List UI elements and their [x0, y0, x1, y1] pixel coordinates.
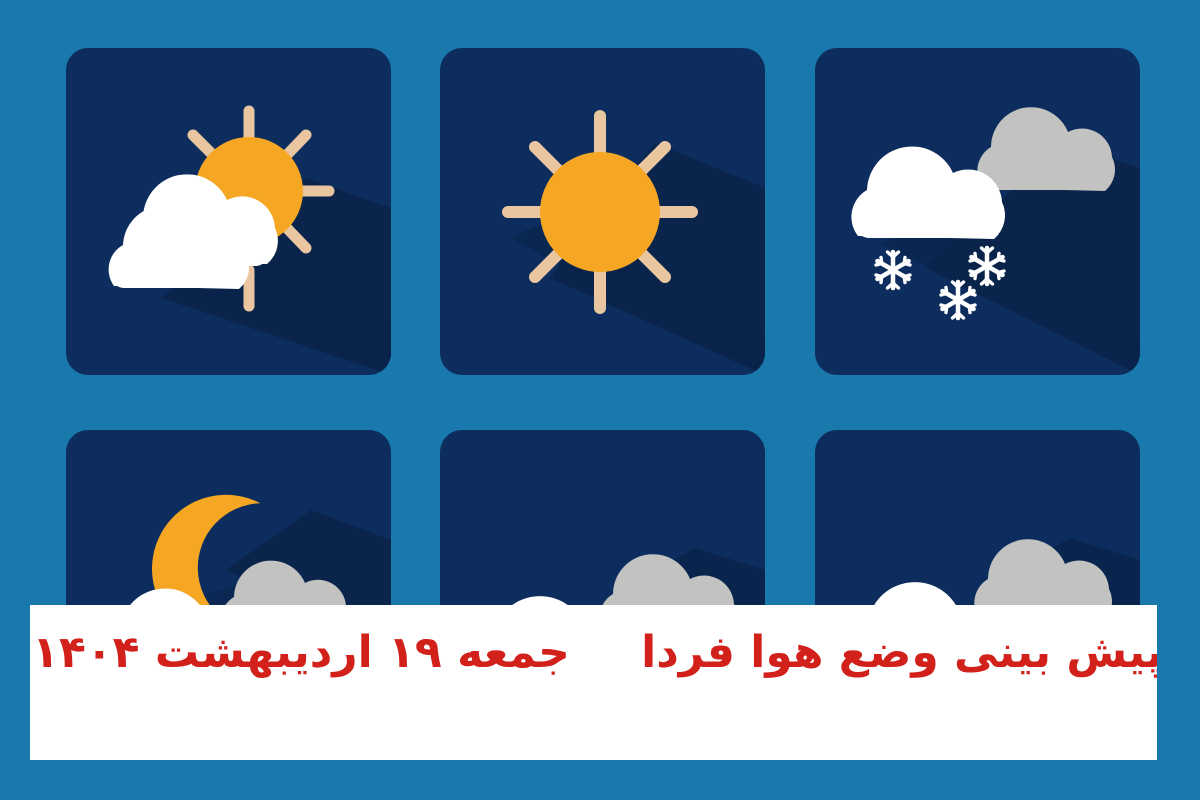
partly-cloudy-day-icon — [66, 48, 391, 375]
banner-text-line: پیش بینی وضع هوا فردا جمعه ۱۹ اردیبهشت ۱… — [30, 625, 1157, 680]
headline-banner: پیش بینی وضع هوا فردا جمعه ۱۹ اردیبهشت ۱… — [30, 605, 1157, 760]
sun-disc — [540, 152, 660, 272]
sunny-icon — [440, 48, 765, 375]
snowflake-icon — [941, 282, 975, 318]
weather-tile-sunny — [440, 48, 765, 375]
date-text: جمعه ۱۹ اردیبهشت ۱۴۰۴ — [32, 627, 570, 678]
weather-forecast-image: پیش بینی وضع هوا فردا جمعه ۱۹ اردیبهشت ۱… — [0, 0, 1200, 800]
weather-tile-snow — [815, 48, 1140, 375]
snowflake-icon — [876, 252, 910, 288]
headline-text: پیش بینی وضع هوا فردا — [641, 627, 1157, 678]
cloud-gray — [977, 107, 1115, 191]
snow-icon — [815, 48, 1140, 375]
weather-tile-partly-cloudy-day — [66, 48, 391, 375]
